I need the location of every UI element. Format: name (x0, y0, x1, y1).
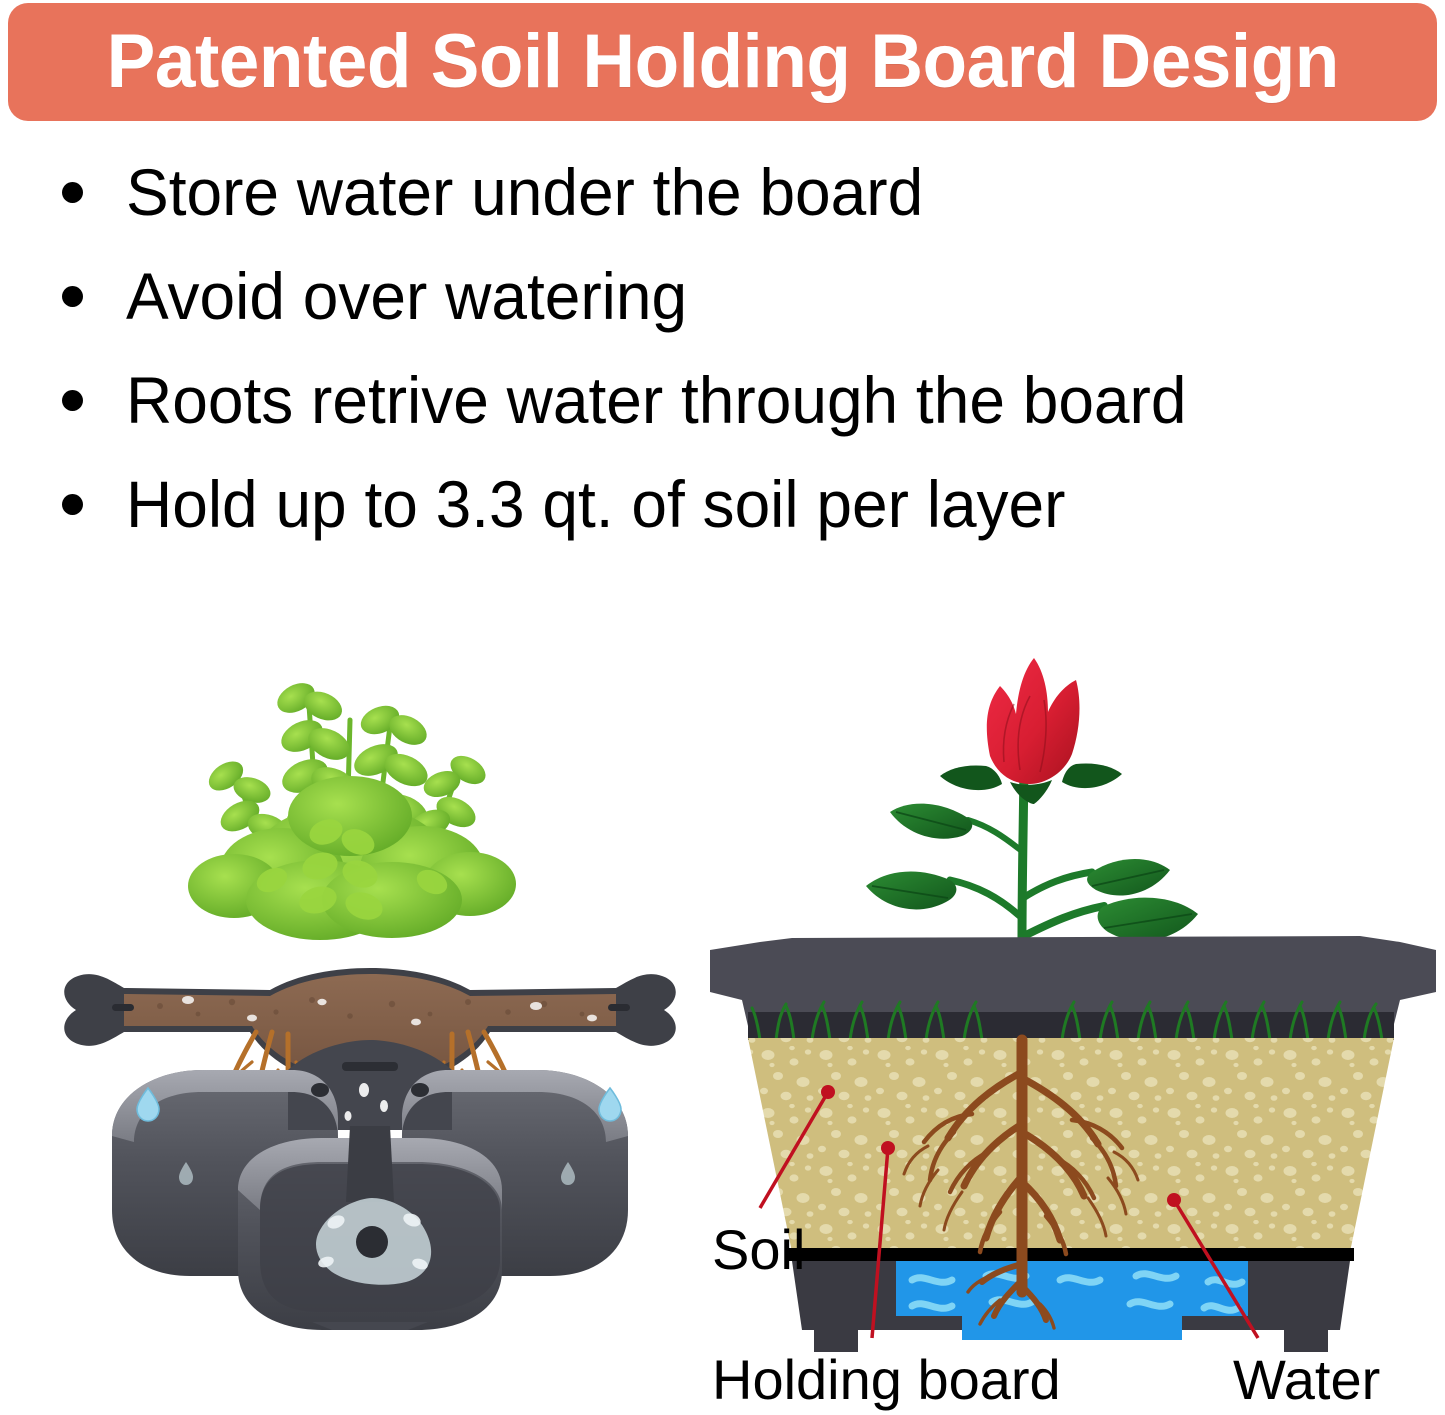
feature-item: Roots retrive water through the board (0, 348, 1445, 452)
feature-item-label: Avoid over watering (126, 263, 687, 329)
feature-item: Store water under the board (0, 140, 1445, 244)
bullet-dot-icon (62, 390, 83, 411)
feature-item: Avoid over watering (0, 244, 1445, 348)
feature-list: Store water under the board Avoid over w… (0, 140, 1445, 556)
feature-item: Hold up to 3.3 qt. of soil per layer (0, 452, 1445, 556)
callout-label-water: Water (1233, 1352, 1380, 1408)
callout-label-soil: Soil (712, 1222, 805, 1278)
callout-label-holding-board: Holding board (712, 1352, 1061, 1408)
header-banner: Patented Soil Holding Board Design (8, 3, 1437, 121)
rose-bloom-icon (940, 658, 1122, 804)
holding-board-layer (788, 1248, 1354, 1261)
bullet-dot-icon (62, 286, 83, 307)
soil-layer (748, 1038, 1394, 1252)
bullet-dot-icon (62, 182, 83, 203)
feature-item-label: Store water under the board (126, 159, 923, 225)
feature-item-label: Roots retrive water through the board (126, 367, 1186, 433)
bullet-dot-icon (62, 494, 83, 515)
plant-foliage (188, 677, 516, 940)
pot-cross-section-diagram (700, 640, 1445, 1415)
stackable-planter-photo (20, 570, 720, 1330)
page-title: Patented Soil Holding Board Design (106, 24, 1338, 100)
rose-plant (866, 658, 1198, 941)
feature-item-label: Hold up to 3.3 qt. of soil per layer (126, 471, 1065, 537)
figures-area (0, 560, 1445, 1415)
